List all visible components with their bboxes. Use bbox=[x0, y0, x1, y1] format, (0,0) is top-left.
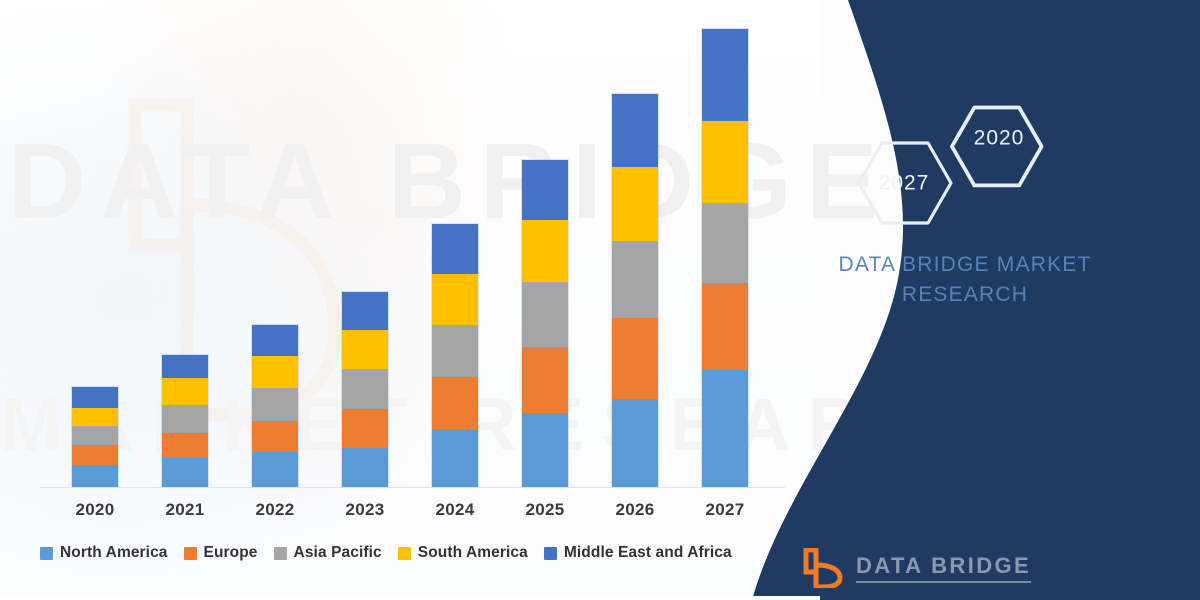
segment-south-america-2024 bbox=[432, 274, 478, 325]
legend-swatch-icon bbox=[274, 547, 287, 560]
legend-label: Europe bbox=[204, 544, 258, 562]
brand-line-2: RESEARCH bbox=[795, 280, 1135, 310]
chart-legend: North AmericaEuropeAsia PacificSouth Ame… bbox=[40, 541, 800, 565]
x-tick-2022: 2022 bbox=[240, 500, 310, 520]
segment-south-america-2022 bbox=[252, 356, 298, 388]
segment-middle-east-and-africa-2020 bbox=[72, 387, 118, 408]
segment-europe-2026 bbox=[612, 318, 658, 398]
segment-south-america-2021 bbox=[162, 378, 208, 405]
segment-asia-pacific-2022 bbox=[252, 388, 298, 420]
segment-asia-pacific-2024 bbox=[432, 325, 478, 377]
segment-europe-2025 bbox=[522, 347, 568, 413]
brand-line-1: DATA BRIDGE MARKET bbox=[795, 250, 1135, 280]
segment-middle-east-and-africa-2022 bbox=[252, 325, 298, 356]
segment-north-america-2025 bbox=[522, 413, 568, 487]
legend-label: South America bbox=[418, 544, 528, 562]
legend-item-north-america[interactable]: North America bbox=[40, 544, 168, 562]
segment-north-america-2023 bbox=[342, 448, 388, 487]
legend-swatch-icon bbox=[184, 547, 197, 560]
chart-plot-area bbox=[40, 20, 780, 487]
segment-south-america-2026 bbox=[612, 167, 658, 241]
segment-north-america-2022 bbox=[252, 452, 298, 487]
segment-north-america-2021 bbox=[162, 458, 208, 487]
legend-item-asia-pacific[interactable]: Asia Pacific bbox=[274, 544, 382, 562]
segment-north-america-2024 bbox=[432, 429, 478, 487]
bar-2024[interactable] bbox=[432, 224, 478, 487]
databridge-logo-text: DATA BRIDGE bbox=[856, 553, 1031, 583]
x-tick-2025: 2025 bbox=[510, 500, 580, 520]
segment-europe-2023 bbox=[342, 409, 388, 448]
hexagon-2027-label: 2027 bbox=[879, 172, 930, 195]
bottom-edge bbox=[0, 596, 820, 600]
stacked-bar-chart bbox=[40, 20, 780, 490]
bar-2023[interactable] bbox=[342, 292, 388, 487]
databridge-b-icon bbox=[800, 548, 844, 588]
segment-north-america-2026 bbox=[612, 399, 658, 487]
segment-north-america-2020 bbox=[72, 465, 118, 487]
segment-middle-east-and-africa-2024 bbox=[432, 224, 478, 275]
segment-asia-pacific-2023 bbox=[342, 369, 388, 409]
x-tick-2020: 2020 bbox=[60, 500, 130, 520]
x-tick-2021: 2021 bbox=[150, 500, 220, 520]
segment-middle-east-and-africa-2026 bbox=[612, 94, 658, 167]
x-tick-2024: 2024 bbox=[420, 500, 490, 520]
segment-europe-2020 bbox=[72, 445, 118, 464]
brand-panel: 2027 2020 DATA BRIDGE MARKET RESEARCH DA… bbox=[740, 0, 1200, 600]
legend-item-europe[interactable]: Europe bbox=[184, 544, 258, 562]
legend-item-south-america[interactable]: South America bbox=[398, 544, 528, 562]
segment-asia-pacific-2025 bbox=[522, 282, 568, 347]
bar-2025[interactable] bbox=[522, 160, 568, 487]
brand-name: DATA BRIDGE MARKET RESEARCH bbox=[795, 250, 1135, 310]
segment-asia-pacific-2026 bbox=[612, 241, 658, 319]
legend-swatch-icon bbox=[544, 547, 557, 560]
segment-europe-2021 bbox=[162, 433, 208, 459]
legend-label: Asia Pacific bbox=[294, 544, 382, 562]
segment-europe-2022 bbox=[252, 421, 298, 452]
legend-swatch-icon bbox=[398, 547, 411, 560]
x-axis-line bbox=[40, 487, 785, 488]
segment-middle-east-and-africa-2021 bbox=[162, 355, 208, 378]
legend-item-middle-east-and-africa[interactable]: Middle East and Africa bbox=[544, 544, 732, 562]
segment-europe-2024 bbox=[432, 377, 478, 429]
poster-canvas: DATA BRIDGE MARKET RESEARCH 202020212022… bbox=[0, 0, 1200, 600]
databridge-logo: DATA BRIDGE bbox=[800, 548, 1031, 588]
bar-2020[interactable] bbox=[72, 387, 118, 487]
hexagon-2020-label: 2020 bbox=[974, 127, 1025, 150]
segment-south-america-2023 bbox=[342, 330, 388, 369]
segment-south-america-2025 bbox=[522, 220, 568, 282]
segment-south-america-2020 bbox=[72, 408, 118, 426]
segment-middle-east-and-africa-2023 bbox=[342, 292, 388, 330]
segment-asia-pacific-2021 bbox=[162, 405, 208, 432]
legend-label: Middle East and Africa bbox=[564, 544, 732, 562]
legend-label: North America bbox=[60, 544, 168, 562]
bar-2022[interactable] bbox=[252, 325, 298, 487]
legend-swatch-icon bbox=[40, 547, 53, 560]
segment-middle-east-and-africa-2025 bbox=[522, 160, 568, 220]
bar-2021[interactable] bbox=[162, 355, 208, 487]
hexagon-group: 2027 2020 bbox=[840, 95, 1060, 245]
x-tick-2023: 2023 bbox=[330, 500, 400, 520]
segment-asia-pacific-2020 bbox=[72, 426, 118, 445]
bar-2026[interactable] bbox=[612, 94, 658, 487]
x-tick-2026: 2026 bbox=[600, 500, 670, 520]
x-axis-tick-labels: 20202021202220232024202520262027 bbox=[40, 500, 780, 526]
